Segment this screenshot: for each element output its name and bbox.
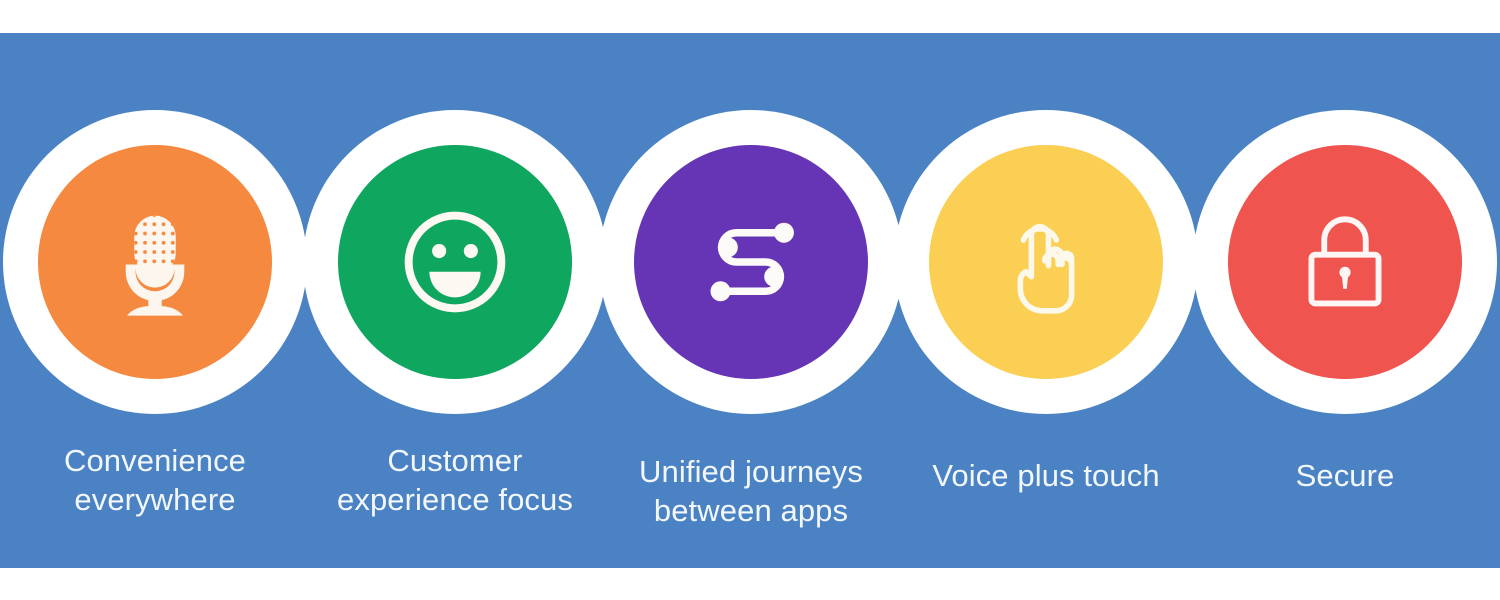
icon-disc-unified-journeys [634, 145, 868, 379]
feature-caption-secure: Secure [1195, 456, 1495, 495]
icon-disc-customer-experience [338, 145, 572, 379]
feature-convenience: Convenience everywhere [5, 0, 305, 600]
smiley-face-icon [394, 201, 516, 323]
icon-disc-voice-plus-touch [929, 145, 1163, 379]
infographic-canvas: Convenience everywhere Customer experien… [0, 0, 1500, 600]
feature-caption-convenience: Convenience everywhere [5, 441, 305, 520]
microphone-icon [94, 201, 216, 323]
feature-caption-customer-experience: Customer experience focus [305, 441, 605, 520]
tap-hand-icon [985, 201, 1107, 323]
journey-path-icon [690, 201, 812, 323]
feature-caption-unified-journeys: Unified journeys between apps [601, 452, 901, 531]
feature-secure: Secure [1195, 0, 1495, 600]
feature-caption-voice-plus-touch: Voice plus touch [896, 456, 1196, 495]
padlock-icon [1284, 201, 1406, 323]
icon-disc-convenience [38, 145, 272, 379]
feature-unified-journeys: Unified journeys between apps [601, 0, 901, 600]
feature-voice-plus-touch: Voice plus touch [896, 0, 1196, 600]
icon-disc-secure [1228, 145, 1462, 379]
feature-customer-experience: Customer experience focus [305, 0, 605, 600]
